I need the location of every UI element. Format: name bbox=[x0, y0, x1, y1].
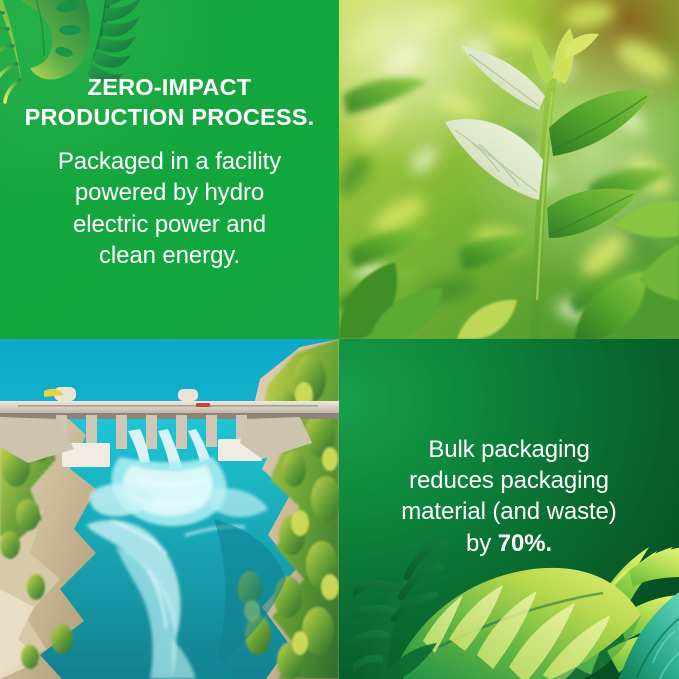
bulk-packaging-copy-block: Bulk packaging reduces packaging materia… bbox=[339, 434, 679, 559]
banana-leaf-icon bbox=[399, 568, 641, 679]
teal-leaf-icon bbox=[617, 589, 679, 679]
stat-prefix: by bbox=[466, 530, 498, 557]
zero-impact-copy-block: ZERO-IMPACT PRODUCTION PROCESS. Packaged… bbox=[0, 72, 339, 271]
zero-impact-body-text: Packaged in a facility powered by hydro … bbox=[18, 146, 321, 271]
fern-frond-dark-icon bbox=[353, 541, 445, 679]
palm-frond-dark-icon bbox=[86, 0, 142, 83]
palm-frond-bright-icon bbox=[567, 547, 679, 675]
bulk-packaging-stat-line: by 70%. bbox=[355, 528, 663, 559]
zero-impact-production-panel: ZERO-IMPACT PRODUCTION PROCESS. Packaged… bbox=[0, 0, 339, 339]
bulk-packaging-body-text: Bulk packaging reduces packaging materia… bbox=[355, 434, 663, 528]
monstera-leaf-icon bbox=[12, 0, 90, 80]
page-title: ZERO-IMPACT PRODUCTION PROCESS. bbox=[18, 72, 321, 132]
stat-value: 70%. bbox=[498, 530, 552, 557]
bulk-packaging-panel: Bulk packaging reduces packaging materia… bbox=[339, 339, 679, 679]
eco-infographic-collage: ZERO-IMPACT PRODUCTION PROCESS. Packaged… bbox=[0, 0, 679, 679]
hydroelectric-dam-photo bbox=[0, 339, 339, 679]
dam-aerial-image bbox=[0, 339, 339, 679]
tea-leaves-image bbox=[339, 0, 679, 339]
tea-plantation-photo bbox=[339, 0, 679, 339]
small-dark-leaf-icon bbox=[377, 643, 437, 679]
